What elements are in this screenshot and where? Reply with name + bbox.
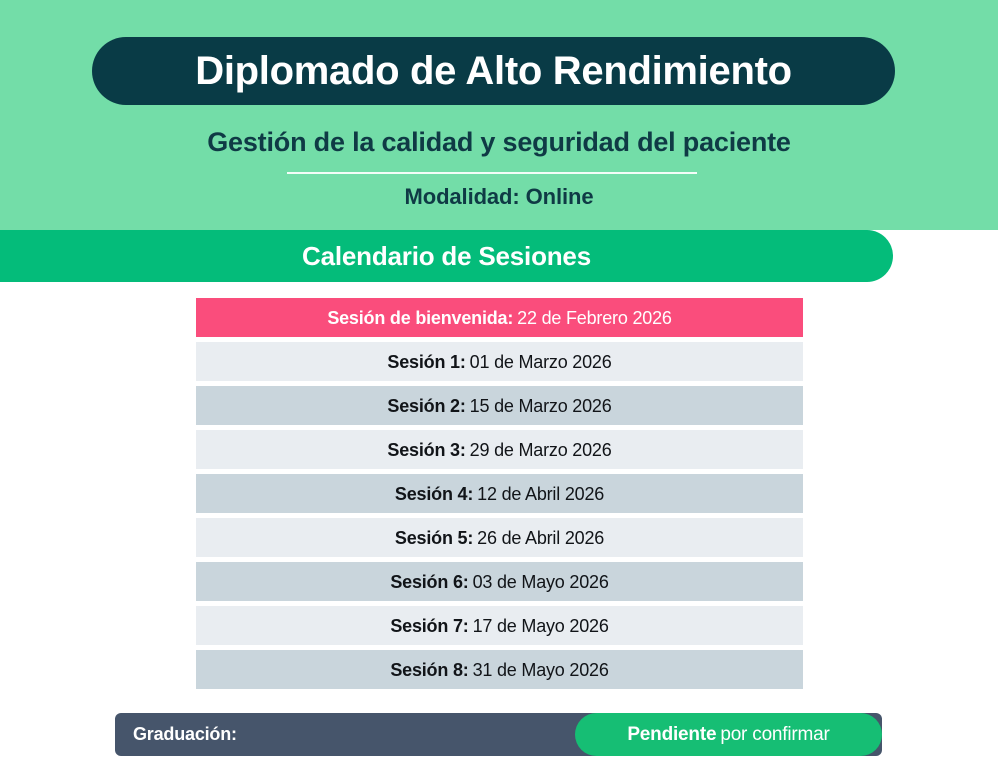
session-text: Sesión 4:12 de Abril 2026 (395, 485, 604, 503)
session-date: 31 de Mayo 2026 (473, 660, 609, 680)
program-subtitle: Gestión de la calidad y seguridad del pa… (0, 128, 998, 158)
session-date: 03 de Mayo 2026 (473, 572, 609, 592)
header-divider (287, 172, 697, 174)
graduation-status-text: Pendientepor confirmar (627, 724, 829, 746)
session-date: 12 de Abril 2026 (477, 484, 604, 504)
session-row: Sesión 7:17 de Mayo 2026 (196, 606, 803, 645)
session-date: 26 de Abril 2026 (477, 528, 604, 548)
session-label: Sesión 5: (395, 528, 473, 548)
session-label: Sesión de bienvenida: (327, 308, 513, 328)
session-text: Sesión 5:26 de Abril 2026 (395, 529, 604, 547)
graduation-bar: Graduación: Pendientepor confirmar (115, 713, 882, 756)
session-date: 17 de Mayo 2026 (473, 616, 609, 636)
session-text: Sesión 2:15 de Marzo 2026 (387, 397, 611, 415)
session-row: Sesión 8:31 de Mayo 2026 (196, 650, 803, 689)
session-text: Sesión 7:17 de Mayo 2026 (390, 617, 608, 635)
session-label: Sesión 8: (390, 660, 468, 680)
session-date: 01 de Marzo 2026 (470, 352, 612, 372)
calendar-section-bar: Calendario de Sesiones (0, 230, 893, 282)
session-date: 29 de Marzo 2026 (470, 440, 612, 460)
session-label: Sesión 2: (387, 396, 465, 416)
program-title-pill: Diplomado de Alto Rendimiento (92, 37, 895, 105)
session-row: Sesión 6:03 de Mayo 2026 (196, 562, 803, 601)
session-date: 22 de Febrero 2026 (517, 308, 672, 328)
session-label: Sesión 6: (390, 572, 468, 592)
session-label: Sesión 7: (390, 616, 468, 636)
page-title: Diplomado de Alto Rendimiento (195, 51, 791, 91)
graduation-label: Graduación: (133, 713, 237, 756)
modality-label: Modalidad: Online (0, 184, 998, 210)
session-text: Sesión de bienvenida:22 de Febrero 2026 (327, 309, 671, 327)
graduation-status-strong: Pendiente (627, 724, 716, 745)
sessions-list: Sesión de bienvenida:22 de Febrero 2026S… (196, 298, 803, 694)
calendar-section-title: Calendario de Sesiones (302, 241, 591, 272)
session-row: Sesión 5:26 de Abril 2026 (196, 518, 803, 557)
session-text: Sesión 1:01 de Marzo 2026 (387, 353, 611, 371)
session-label: Sesión 4: (395, 484, 473, 504)
session-row: Sesión de bienvenida:22 de Febrero 2026 (196, 298, 803, 337)
session-row: Sesión 1:01 de Marzo 2026 (196, 342, 803, 381)
session-text: Sesión 6:03 de Mayo 2026 (390, 573, 608, 591)
session-label: Sesión 3: (387, 440, 465, 460)
graduation-status-badge: Pendientepor confirmar (575, 713, 882, 756)
session-row: Sesión 2:15 de Marzo 2026 (196, 386, 803, 425)
session-row: Sesión 3:29 de Marzo 2026 (196, 430, 803, 469)
session-date: 15 de Marzo 2026 (470, 396, 612, 416)
session-row: Sesión 4:12 de Abril 2026 (196, 474, 803, 513)
graduation-status-rest: por confirmar (720, 724, 829, 745)
session-text: Sesión 3:29 de Marzo 2026 (387, 441, 611, 459)
header-band: Diplomado de Alto Rendimiento Gestión de… (0, 0, 998, 230)
session-label: Sesión 1: (387, 352, 465, 372)
session-text: Sesión 8:31 de Mayo 2026 (390, 661, 608, 679)
